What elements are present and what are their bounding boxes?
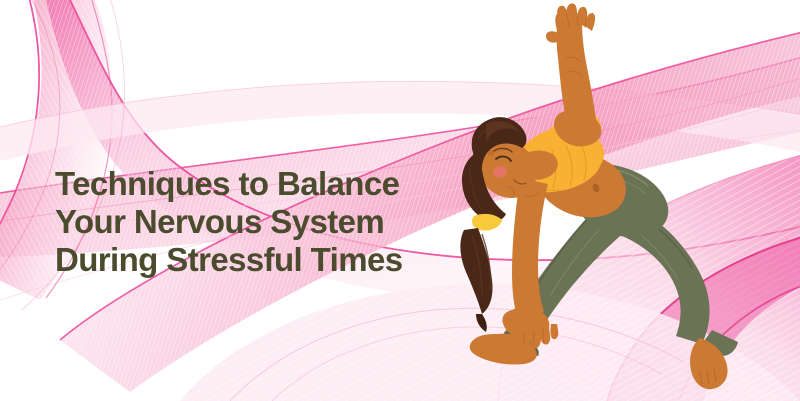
headline-line-1: Techniques to Balance	[55, 165, 455, 203]
arm-raised	[546, 3, 601, 146]
headline-line-3: During Stressful Times	[55, 241, 455, 279]
headline-block: Techniques to Balance Your Nervous Syste…	[55, 165, 455, 279]
headline-line-2: Your Nervous System	[55, 203, 455, 241]
figure-group	[460, 3, 738, 389]
banner-root: Techniques to Balance Your Nervous Syste…	[0, 0, 800, 401]
